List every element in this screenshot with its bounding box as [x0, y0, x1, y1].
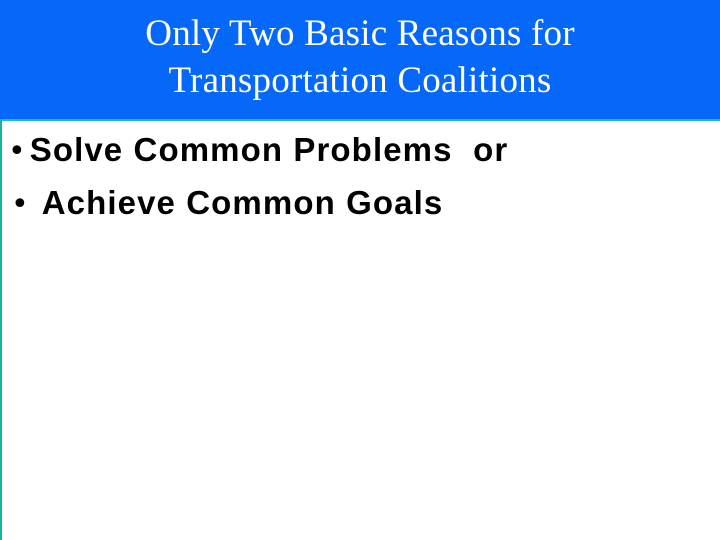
- slide: Only Two Basic Reasons for Transportatio…: [0, 0, 720, 540]
- bullet-point-icon: •: [11, 184, 29, 226]
- title-banner: Only Two Basic Reasons for Transportatio…: [0, 0, 720, 119]
- title-line-1: Only Two Basic Reasons for: [145, 10, 574, 57]
- title-line-2: Transportation Coalitions: [169, 57, 552, 104]
- list-item: • Achieve Common Goals: [0, 182, 720, 226]
- bullet-point-icon: •: [8, 131, 26, 173]
- bullet-text-1: Solve Common Problems or: [30, 129, 509, 171]
- bullet-list: • Solve Common Problems or • Achieve Com…: [0, 121, 720, 540]
- bullet-text-2: Achieve Common Goals: [42, 182, 444, 224]
- list-item: • Solve Common Problems or: [0, 129, 720, 173]
